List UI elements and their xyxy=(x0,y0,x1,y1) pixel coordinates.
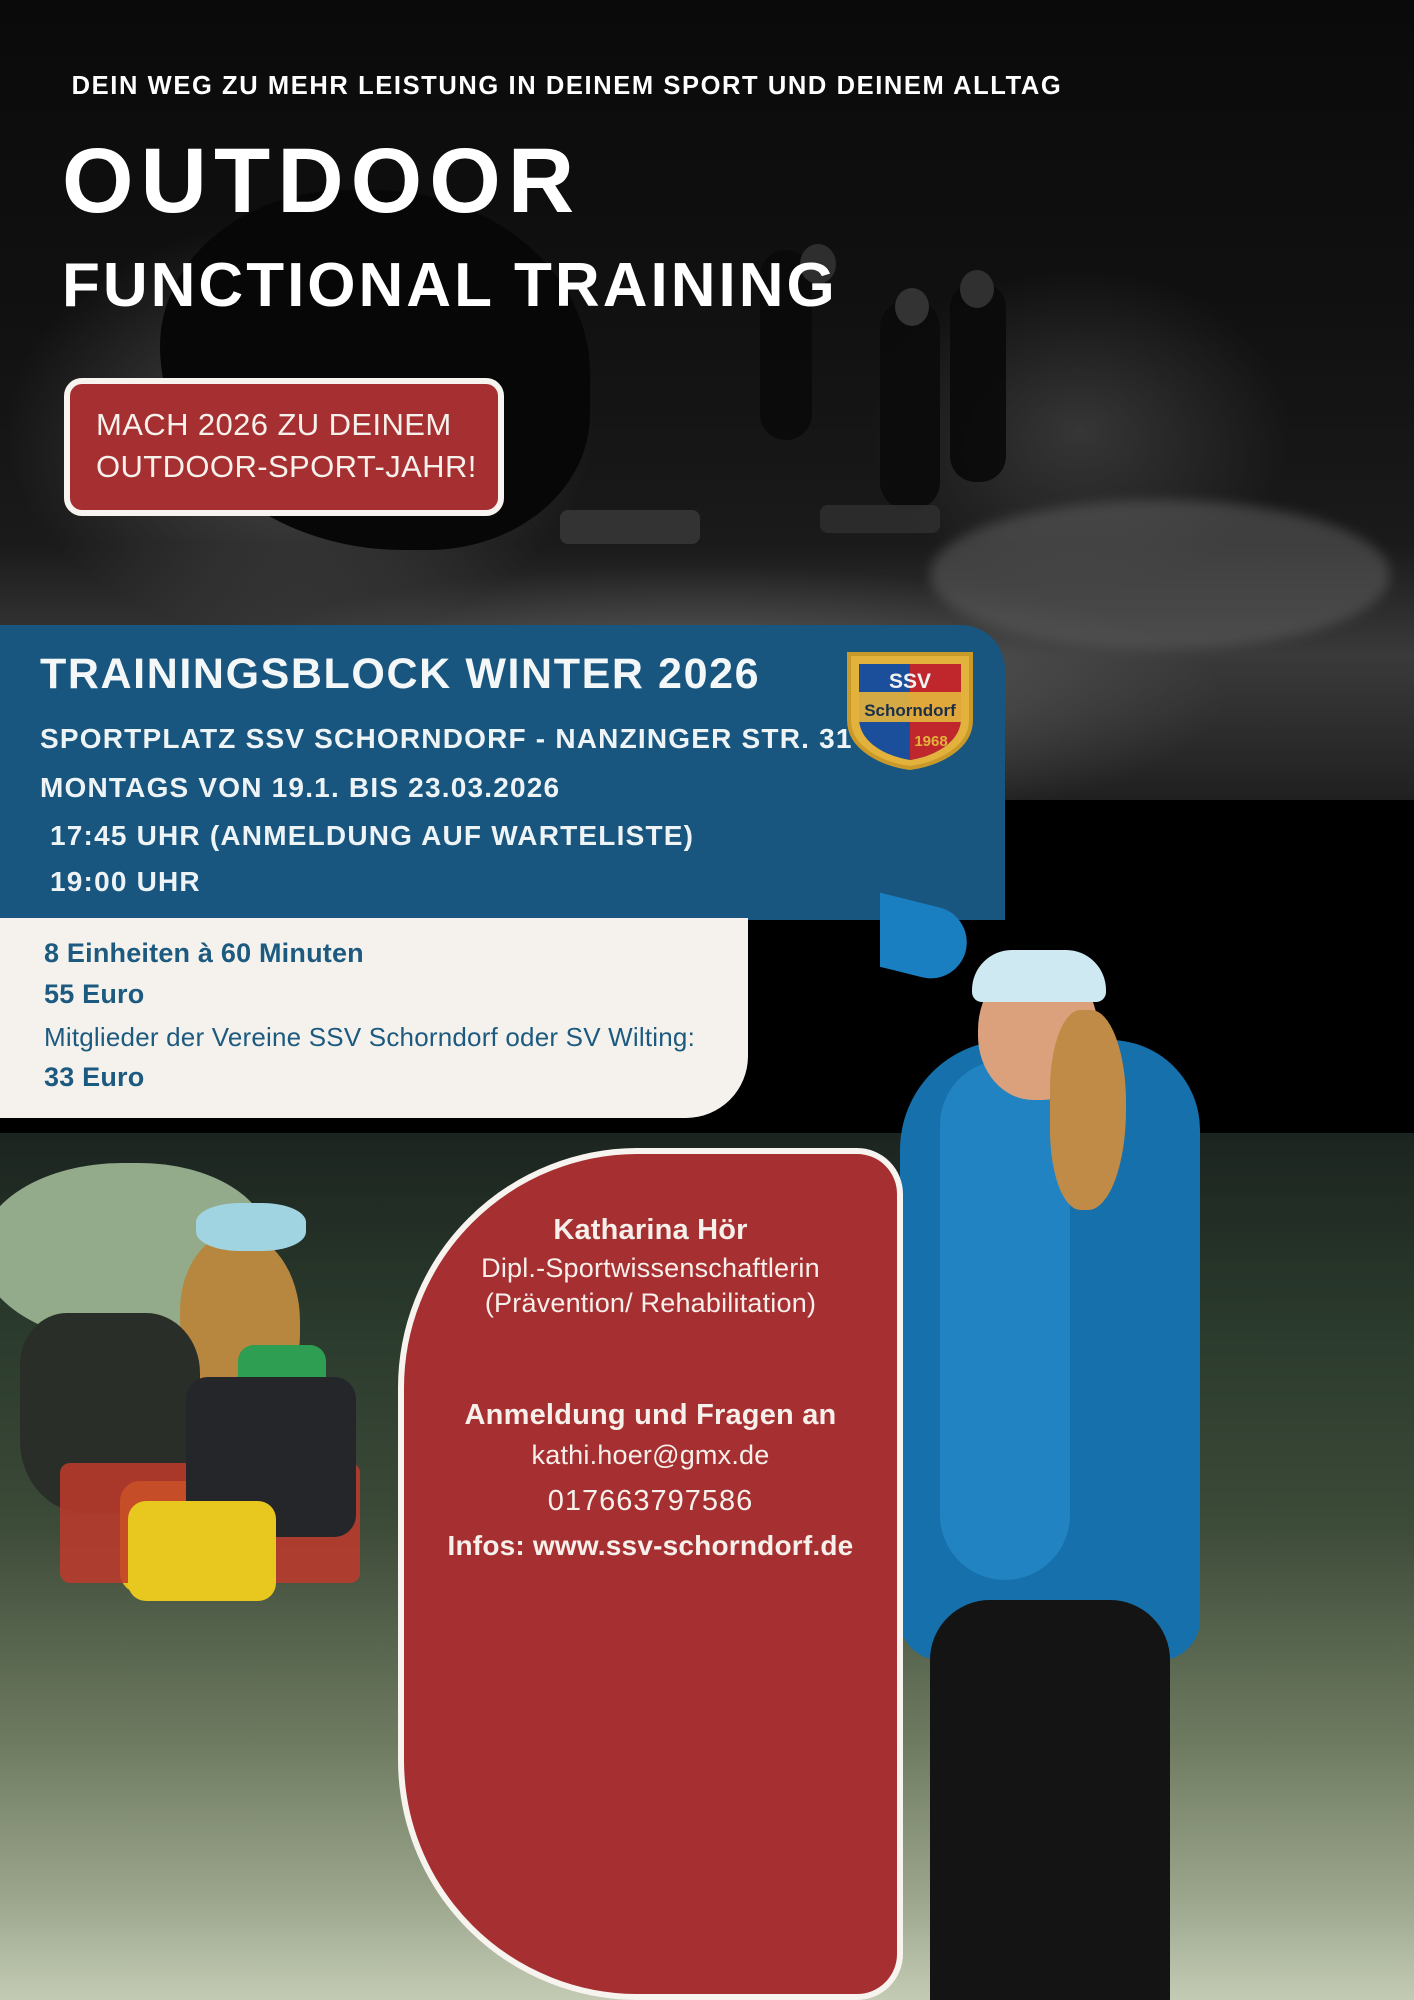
athlete-headband-shape xyxy=(196,1203,306,1251)
logo-founded-text: 1968 xyxy=(914,733,947,750)
pricing-sessions: 8 Einheiten à 60 Minuten xyxy=(44,938,364,969)
contact-signup-heading: Anmeldung und Fragen an xyxy=(404,1399,897,1432)
trainer-photo-overlay xyxy=(880,760,1414,2000)
ground-mat-shape xyxy=(820,505,940,533)
details-time-slot-1: 17:45 UHR (ANMELDUNG AUF WARTELISTE) xyxy=(50,820,694,852)
pricing-regular-price: 55 Euro xyxy=(44,979,144,1010)
contact-name: Katharina Hör xyxy=(404,1214,897,1247)
contact-phone[interactable]: 017663797586 xyxy=(404,1485,897,1518)
silhouette-figure xyxy=(880,300,940,510)
hero-tagline: DEIN WEG ZU MEHR LEISTUNG IN DEINEM SPOR… xyxy=(62,72,1072,101)
foreground-blur-shape xyxy=(930,500,1390,650)
contact-website[interactable]: Infos: www.ssv-schorndorf.de xyxy=(404,1530,897,1562)
callout-badge-line-1: MACH 2026 ZU DEINEM xyxy=(96,404,472,446)
silhouette-head xyxy=(960,270,994,308)
details-location: SPORTPLATZ SSV SCHORNDORF - NANZINGER ST… xyxy=(40,723,853,755)
poster-root: DEIN WEG ZU MEHR LEISTUNG IN DEINEM SPOR… xyxy=(0,0,1414,2000)
trainer-hair xyxy=(1050,1010,1126,1210)
weight-bag-15kg-front xyxy=(128,1501,276,1601)
contact-card: Katharina Hör Dipl.-Sportwissenschaftler… xyxy=(398,1148,903,2000)
page-title-line-2: FUNCTIONAL TRAINING xyxy=(62,255,838,317)
silhouette-head xyxy=(895,288,929,326)
silhouette-figure xyxy=(950,282,1006,482)
logo-club-text: Schorndorf xyxy=(864,701,956,720)
ssv-schorndorf-logo: SSV Schorndorf 1968 xyxy=(843,648,977,772)
pricing-member-note: Mitglieder der Vereine SSV Schorndorf od… xyxy=(44,1022,695,1053)
contact-qualification: Dipl.-Sportwissenschaftlerin xyxy=(404,1253,897,1284)
trainer-arm xyxy=(880,846,974,986)
trainer-legs xyxy=(930,1600,1170,2000)
ground-mat-shape xyxy=(560,510,700,544)
callout-badge-line-2: OUTDOOR-SPORT-JAHR! xyxy=(96,446,472,488)
callout-badge: MACH 2026 ZU DEINEM OUTDOOR-SPORT-JAHR! xyxy=(64,378,504,516)
page-title-line-1: OUTDOOR xyxy=(62,135,581,227)
logo-abbrev-text: SSV xyxy=(889,670,931,693)
details-heading: TRAININGSBLOCK WINTER 2026 xyxy=(40,650,760,699)
contact-email[interactable]: kathi.hoer@gmx.de xyxy=(404,1440,897,1471)
contact-specialty: (Prävention/ Rehabilitation) xyxy=(404,1288,897,1319)
pricing-member-price: 33 Euro xyxy=(44,1062,144,1093)
details-time-slot-2: 19:00 UHR xyxy=(50,866,201,898)
details-period: MONTAGS VON 19.1. BIS 23.03.2026 xyxy=(40,772,560,804)
trainer-headband xyxy=(972,950,1106,1002)
